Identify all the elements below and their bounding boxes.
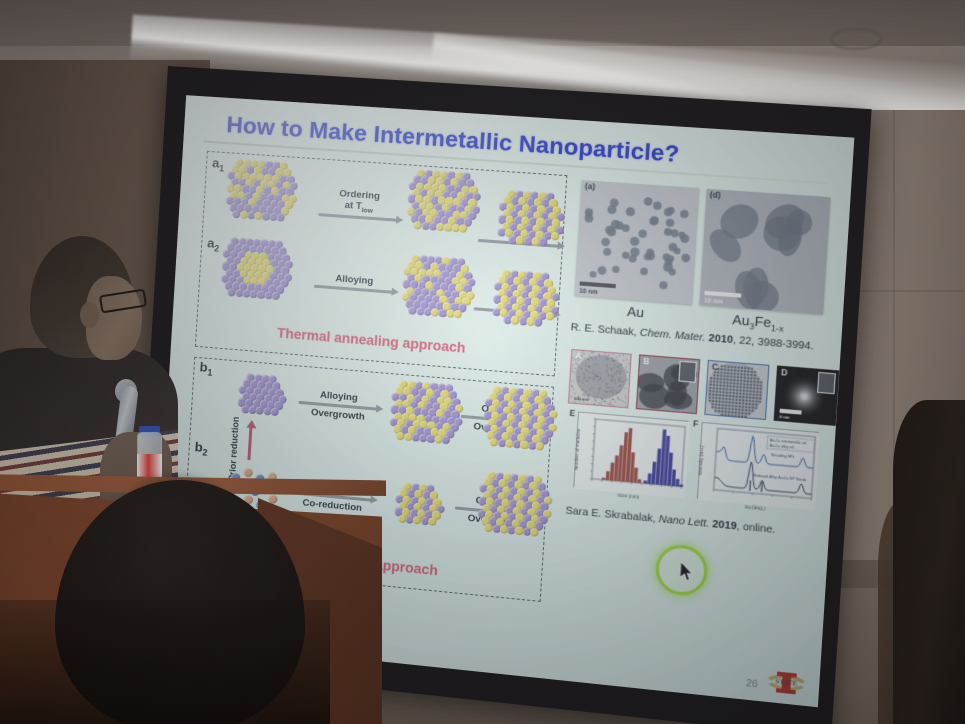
iowa-state-university-logo: STATE <box>764 666 809 700</box>
nanoparticle-cluster-disordered <box>225 158 299 225</box>
citation-year: 2010 <box>708 333 733 346</box>
panel-tag-sub: 1 <box>207 367 213 377</box>
micrograph-column: (a) 10 nm (d) 10 nm Au <box>548 176 833 685</box>
nanoparticle-atom <box>535 442 544 451</box>
nanoparticle-cluster-alloyed <box>401 254 477 322</box>
nanoparticle-atom <box>276 213 285 222</box>
panel-tag-sub: 2 <box>202 447 208 457</box>
panel-tag-a1: a1 <box>212 155 225 173</box>
micrograph-panel-letter: D <box>781 368 788 378</box>
formula-au: Au <box>732 312 750 329</box>
nanoparticle-atom <box>530 528 539 537</box>
nanoparticle-atom <box>459 224 468 233</box>
nanoparticle-atom <box>534 318 543 327</box>
xrd-plot-f: F Intensity (a.u.) 2q (deg.) <box>697 422 819 509</box>
presenter-ear <box>80 302 99 328</box>
scalebar-label: 100 nm <box>573 396 588 402</box>
plot-letter-f: F <box>693 419 699 429</box>
cursor-arrow-svg <box>680 562 695 583</box>
histogram-plot-e: E Number of Particles Size (nm) <box>573 411 689 497</box>
arrow-label-text: at T <box>344 198 362 210</box>
nanoparticle-cluster-intermetallic <box>492 269 561 330</box>
micrograph-panel-letter: A <box>575 351 582 361</box>
inset-image <box>678 361 697 384</box>
tem-panel-letter: (a) <box>585 182 596 192</box>
citation-journal: Chem. Mater. <box>639 327 705 344</box>
nanoparticle-cluster-small-ordered <box>394 482 446 529</box>
plot-letter-e: E <box>569 409 575 419</box>
nanoparticle-cluster-ordered <box>497 189 566 250</box>
citation-journal: Nano Lett. <box>658 514 709 530</box>
nanoparticle-atom <box>428 517 437 526</box>
nanoparticle-cluster-alloy-shell <box>389 379 465 447</box>
micrograph-panel-letter: B <box>643 357 650 367</box>
nanoparticle-cluster-partially-ordered <box>406 169 482 236</box>
nanoparticle-atom <box>453 310 462 319</box>
scalebar-label: 5 nm <box>779 414 790 420</box>
histogram-canvas <box>574 413 690 499</box>
xrd-canvas <box>698 423 820 510</box>
micrograph-panel-letter: C <box>712 362 719 372</box>
tem-caption-au: Au <box>582 300 690 324</box>
nanoparticle-atom <box>272 291 281 300</box>
nanoparticle-seed-monometallic <box>237 373 288 420</box>
nanoparticle-cluster-core-shell <box>220 236 294 303</box>
nanoparticle-atom <box>546 312 555 321</box>
citation-rest: , 22, 3988-3994. <box>733 335 814 353</box>
mouse-pointer-icon[interactable] <box>680 562 695 583</box>
tem-row-top: (a) 10 nm (d) 10 nm <box>575 180 831 314</box>
tem-image-aufe: (d) 10 nm <box>700 189 831 315</box>
micrograph-panel-d: D 5 nm <box>774 365 840 426</box>
citation-author: Sara E. Skrabalak, <box>565 505 656 525</box>
photograph-stage: How to Make Intermetallic Nanoparticle? … <box>0 0 965 724</box>
tem-image-au: (a) 10 nm <box>575 180 700 304</box>
precursor-ion-tan <box>268 494 278 504</box>
panel-tag-b1: b1 <box>199 359 213 378</box>
slide-number: 26 <box>745 678 758 691</box>
nanoparticle-atom <box>551 232 560 241</box>
micrograph-panel-b: B <box>636 354 701 414</box>
precursor-ion-tan <box>243 468 253 478</box>
nanoparticle-cluster-ordered-shell <box>482 385 559 454</box>
panel-tag-a2: a2 <box>207 235 220 254</box>
scalebar-label: 10 nm <box>579 289 598 297</box>
micrograph-panel-a: A 100 nm <box>568 349 632 409</box>
arrow-label-subscript: low <box>361 206 373 214</box>
formula-sub-1x: 1-x <box>771 323 785 334</box>
nanoparticle-atom <box>539 238 548 247</box>
citation-rest: , online. <box>736 521 775 536</box>
micrograph-panel-c: C <box>704 360 769 420</box>
nanoparticle-atom <box>270 407 279 416</box>
citation-year: 2019 <box>712 519 737 533</box>
panel-tag-b2: b2 <box>194 439 208 458</box>
ceiling-vent-icon <box>830 28 882 50</box>
foreground-shadow <box>0 600 330 724</box>
inset-image <box>817 372 836 395</box>
isu-logo-svg: STATE <box>764 666 809 700</box>
panel-tag-sub: 1 <box>219 163 225 173</box>
scalebar-label: 10 nm <box>704 298 723 306</box>
nanoparticle-atom <box>441 435 450 444</box>
citation-author: R. E. Schaak, <box>570 322 637 339</box>
nanoparticle-cluster-large-ordered <box>476 471 553 540</box>
panel-tag-sub: 2 <box>214 243 220 253</box>
arrow-ordering-tlow: Ordering at Tlow <box>314 187 404 222</box>
tem-panel-letter: (d) <box>709 190 721 200</box>
standing-person-right <box>893 400 965 724</box>
formula-fe: Fe <box>754 313 771 330</box>
